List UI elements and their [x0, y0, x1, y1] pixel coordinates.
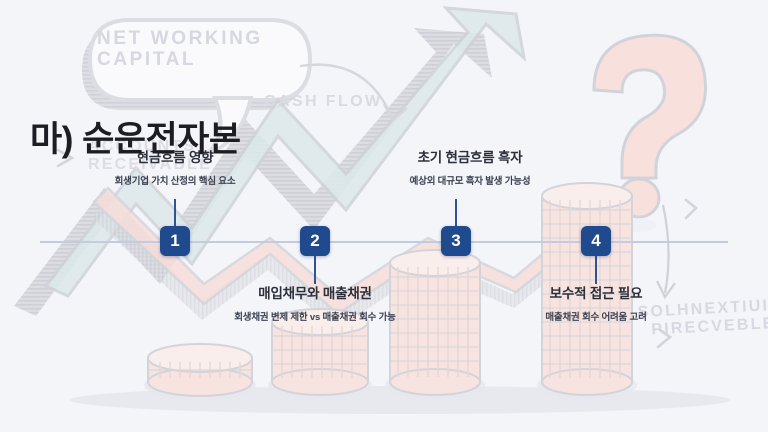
callout-3-subtitle: 예상외 대규모 흑자 발생 가능성 — [325, 173, 615, 187]
marker-badge-3[interactable]: 3 — [441, 226, 471, 256]
watermark-cash-flow: CASH FLOW — [264, 93, 382, 111]
marker-badge-4[interactable]: 4 — [581, 226, 611, 256]
slide-canvas: NET WORKING CAPITAL CASH FLOW ACCOUNTS R… — [0, 0, 768, 432]
ground-shadow — [70, 386, 730, 414]
question-mark-shape — [594, 35, 706, 232]
watermark-net-working-capital: NET WORKING CAPITAL — [97, 28, 263, 71]
coin-stack-3 — [385, 250, 485, 399]
callout-1-subtitle: 회생기업 가치 산정의 핵심 요소 — [30, 173, 320, 187]
callout-4-subtitle: 매출채권 회수 어려움 고려 — [466, 309, 726, 323]
down-arrow-icon — [657, 205, 675, 297]
coin-stack-1 — [144, 344, 256, 400]
marker-badge-1[interactable]: 1 — [160, 226, 190, 256]
marker-stem-4 — [595, 256, 597, 284]
marker-stem-1 — [174, 199, 176, 227]
callout-3: 초기 현금흐름 흑자 예상외 대규모 흑자 발생 가능성 — [325, 150, 615, 187]
callout-2-title: 매입채무와 매출채권 — [170, 286, 460, 302]
marker-stem-2 — [314, 256, 316, 284]
callout-2: 매입채무와 매출채권 회생채권 변제 제한 vs 매출채권 회수 가능 — [170, 286, 460, 323]
callout-4-title: 보수적 접근 필요 — [466, 286, 726, 302]
baseline-axis — [40, 241, 728, 243]
callout-4: 보수적 접근 필요 매출채권 회수 어려움 고려 — [466, 286, 726, 323]
marker-stem-3 — [455, 199, 457, 227]
marker-badge-2[interactable]: 2 — [300, 226, 330, 256]
callout-3-title: 초기 현금흐름 흑자 — [325, 150, 615, 166]
callout-2-subtitle: 회생채권 변제 제한 vs 매출채권 회수 가능 — [170, 309, 460, 323]
page-title: 마) 순운전자본 — [30, 111, 241, 162]
